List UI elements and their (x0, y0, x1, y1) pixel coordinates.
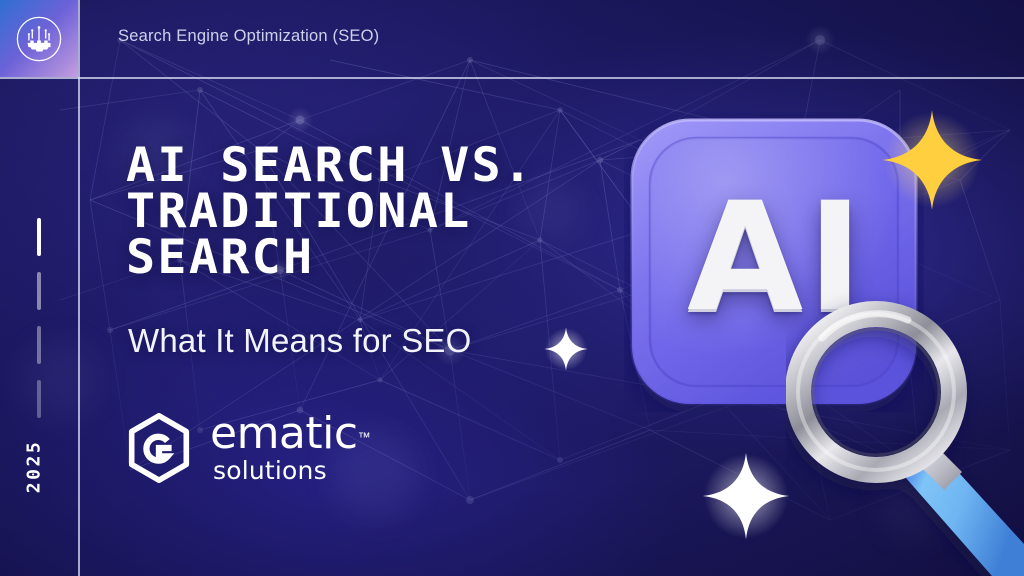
sidebar-divider-vertical (78, 77, 80, 576)
ematic-hex-e-icon (124, 413, 194, 483)
sparkle-white-subtitle-icon (543, 326, 589, 372)
headline-line-3: SEARCH (126, 235, 662, 281)
rail-tick-3 (37, 326, 41, 364)
sparkle-gold-top-right-icon (880, 108, 984, 212)
trademark-symbol: ™ (358, 430, 371, 445)
rail-tick-1 (37, 218, 41, 256)
headline-line-2: TRADITIONAL (126, 189, 662, 235)
subtitle: What It Means for SEO (128, 322, 471, 360)
ematic-tagline: solutions (213, 458, 371, 483)
ematic-name: ematic (210, 408, 358, 459)
header-divider-horizontal (0, 77, 1024, 79)
rail-tick-2 (37, 272, 41, 310)
headline-line-1: AI SEARCH VS. (126, 143, 662, 189)
ematic-solutions-logo: ematic™ solutions (124, 412, 371, 483)
presentation-slide: AI (0, 0, 1024, 576)
rail-tick-group (37, 218, 41, 434)
circuit-gear-icon (15, 15, 63, 63)
header-category-label: Search Engine Optimization (SEO) (118, 27, 379, 46)
brand-logo-tile[interactable] (0, 0, 78, 77)
ematic-wordmark: ematic™ solutions (210, 412, 371, 483)
rail-year-label: 2025 (24, 427, 45, 507)
page-title: AI SEARCH VS. TRADITIONAL SEARCH (126, 143, 662, 281)
brand-tile-divider-vertical (78, 0, 80, 77)
magnifying-glass-3d-icon (786, 282, 1024, 576)
rail-tick-4 (37, 380, 41, 418)
ematic-name-row: ematic™ (210, 412, 371, 456)
sparkle-white-bottom-icon (700, 450, 792, 542)
